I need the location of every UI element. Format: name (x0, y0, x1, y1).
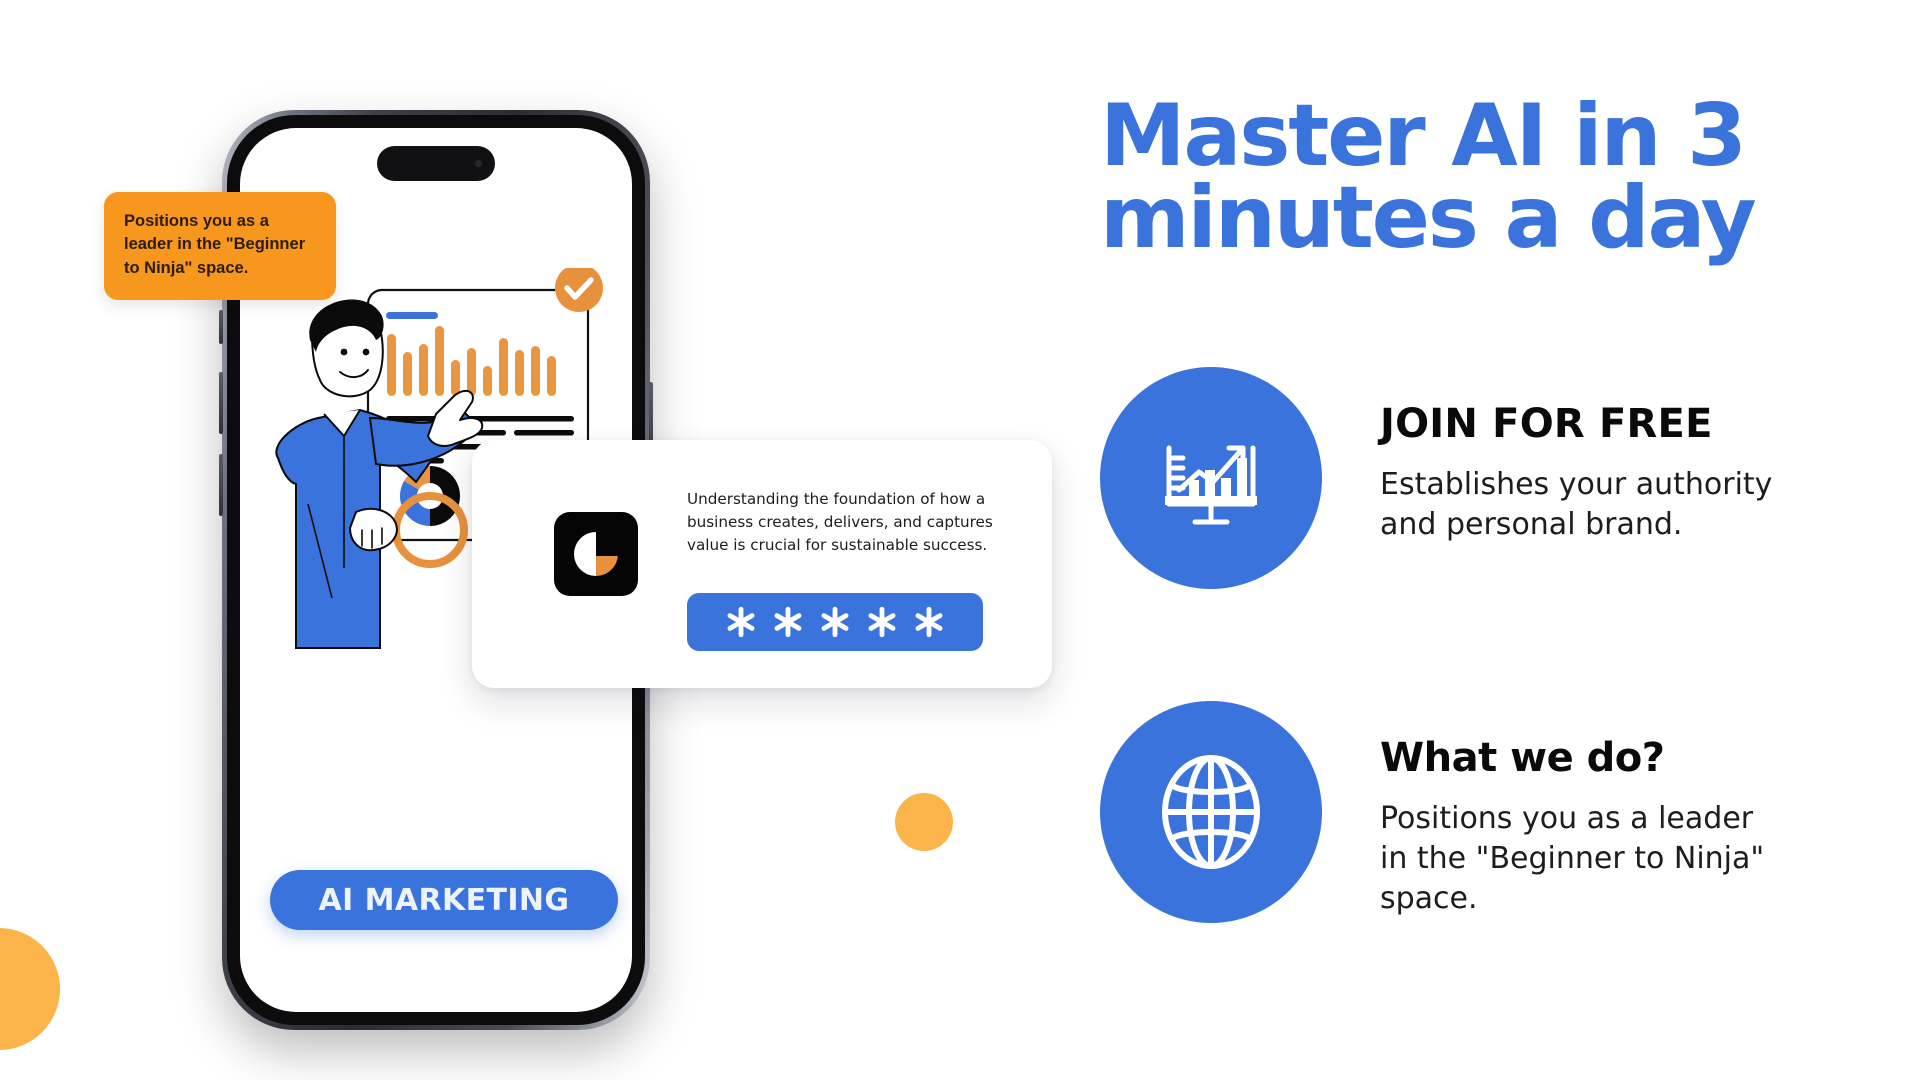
feature-join-for-free: JOIN FOR FREE Establishes your authority… (1100, 367, 1900, 589)
ai-marketing-button[interactable]: AI MARKETING (270, 870, 618, 930)
decorative-circle-bottom-left (0, 928, 60, 1050)
phone-volume-down-button[interactable] (219, 454, 223, 516)
info-card-paragraph: Understanding the foundation of how a bu… (687, 488, 997, 557)
feature-description: Positions you as a leader in the "Beginn… (1380, 799, 1780, 919)
decorative-circle-dot (895, 793, 953, 851)
slide-canvas: AI MARKETING Positions you as a leader i… (0, 0, 1920, 1080)
asterisk-icon (771, 605, 805, 639)
globe-icon (1100, 701, 1322, 923)
phone-volume-up-button[interactable] (219, 372, 223, 434)
dynamic-island (377, 146, 495, 181)
asterisk-icon (724, 605, 758, 639)
right-content: Master AI in 3 minutes a day (1100, 96, 1900, 923)
phone-mute-switch[interactable] (219, 310, 223, 344)
ai-marketing-button-label: AI MARKETING (319, 883, 570, 918)
camera-dot-icon (475, 160, 482, 167)
tooltip-callout: Positions you as a leader in the "Beginn… (104, 192, 336, 300)
tooltip-callout-text: Positions you as a leader in the "Beginn… (124, 212, 305, 277)
page-title: Master AI in 3 minutes a day (1100, 96, 1800, 259)
feature-title: JOIN FOR FREE (1380, 401, 1780, 447)
asterisk-icon (912, 605, 946, 639)
feature-what-we-do: What we do? Positions you as a leader in… (1100, 701, 1900, 923)
asterisk-icon (818, 605, 852, 639)
feature-description: Establishes your authority and personal … (1380, 465, 1780, 545)
growth-chart-monitor-icon (1100, 367, 1322, 589)
pie-chart-logo-icon (554, 512, 638, 596)
feature-title: What we do? (1380, 735, 1780, 781)
asterisk-icon (865, 605, 899, 639)
password-field[interactable] (687, 593, 983, 651)
